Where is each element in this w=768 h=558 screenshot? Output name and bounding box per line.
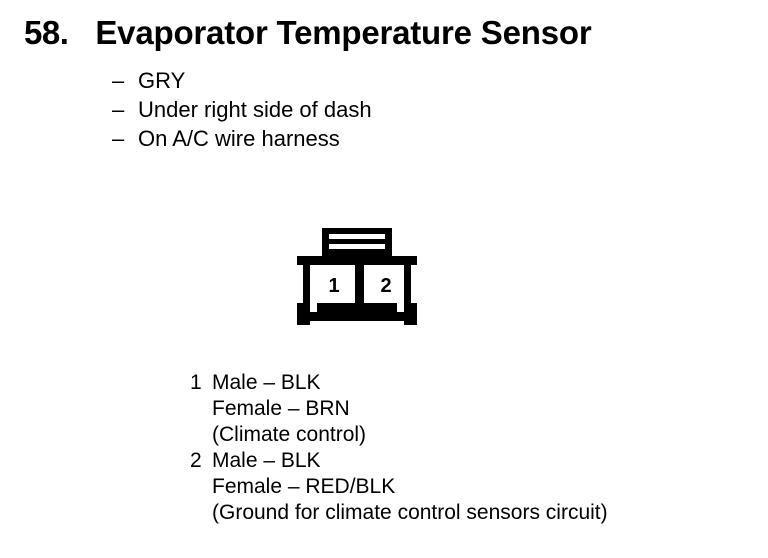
description-item: – On A/C wire harness	[112, 124, 372, 153]
pin-legend-line: Female – BRN	[212, 396, 366, 422]
page-title: 58. Evaporator Temperature Sensor	[24, 14, 591, 52]
pin-legend-line: (Ground for climate control sensors circ…	[212, 500, 608, 526]
description-item: – GRY	[112, 66, 372, 95]
connector-pin-number-2: 2	[380, 275, 391, 297]
connector-bottom-bridge	[310, 312, 404, 321]
dash-bullet: –	[112, 95, 138, 124]
connector-left-leg-notch	[297, 265, 303, 303]
heading-title: Evaporator Temperature Sensor	[95, 14, 591, 52]
pin-legend: 1 Male – BLK Female – BRN (Climate contr…	[190, 370, 608, 526]
pin-legend-number: 2	[190, 448, 212, 474]
pin-legend-number: 1	[190, 370, 212, 396]
pin-legend-line: Male – BLK	[212, 370, 366, 396]
description-list: – GRY – Under right side of dash – On A/…	[112, 66, 372, 153]
connector-diagram: 1 2	[289, 220, 439, 330]
description-text: Under right side of dash	[138, 95, 372, 124]
connector-svg: 1 2	[289, 220, 439, 325]
connector-pin-number-1: 1	[328, 275, 339, 297]
connector-bottom-left-foot	[297, 303, 310, 325]
dash-bullet: –	[112, 124, 138, 153]
connector-pin-divider	[356, 265, 363, 312]
description-item: – Under right side of dash	[112, 95, 372, 124]
connector-tab-slot-lower	[329, 244, 385, 249]
pin-legend-line: Female – RED/BLK	[212, 474, 608, 500]
pin-legend-entry: 1 Male – BLK Female – BRN (Climate contr…	[190, 370, 608, 448]
connector-right-leg-notch	[411, 265, 417, 303]
pin-legend-entry: 2 Male – BLK Female – RED/BLK (Ground fo…	[190, 448, 608, 526]
pin-legend-lines: Male – BLK Female – RED/BLK (Ground for …	[212, 448, 608, 526]
pin-legend-line: Male – BLK	[212, 448, 608, 474]
pin-legend-line: (Climate control)	[212, 422, 366, 448]
connector-bottom-right-foot	[404, 303, 417, 325]
dash-bullet: –	[112, 66, 138, 95]
connector-top-tab	[322, 228, 392, 258]
description-text: On A/C wire harness	[138, 124, 340, 153]
pin-legend-lines: Male – BLK Female – BRN (Climate control…	[212, 370, 366, 448]
description-text: GRY	[138, 66, 185, 95]
heading-number: 58.	[24, 14, 68, 52]
connector-tab-slot-upper	[329, 234, 385, 239]
connector-top-rail	[297, 256, 417, 265]
